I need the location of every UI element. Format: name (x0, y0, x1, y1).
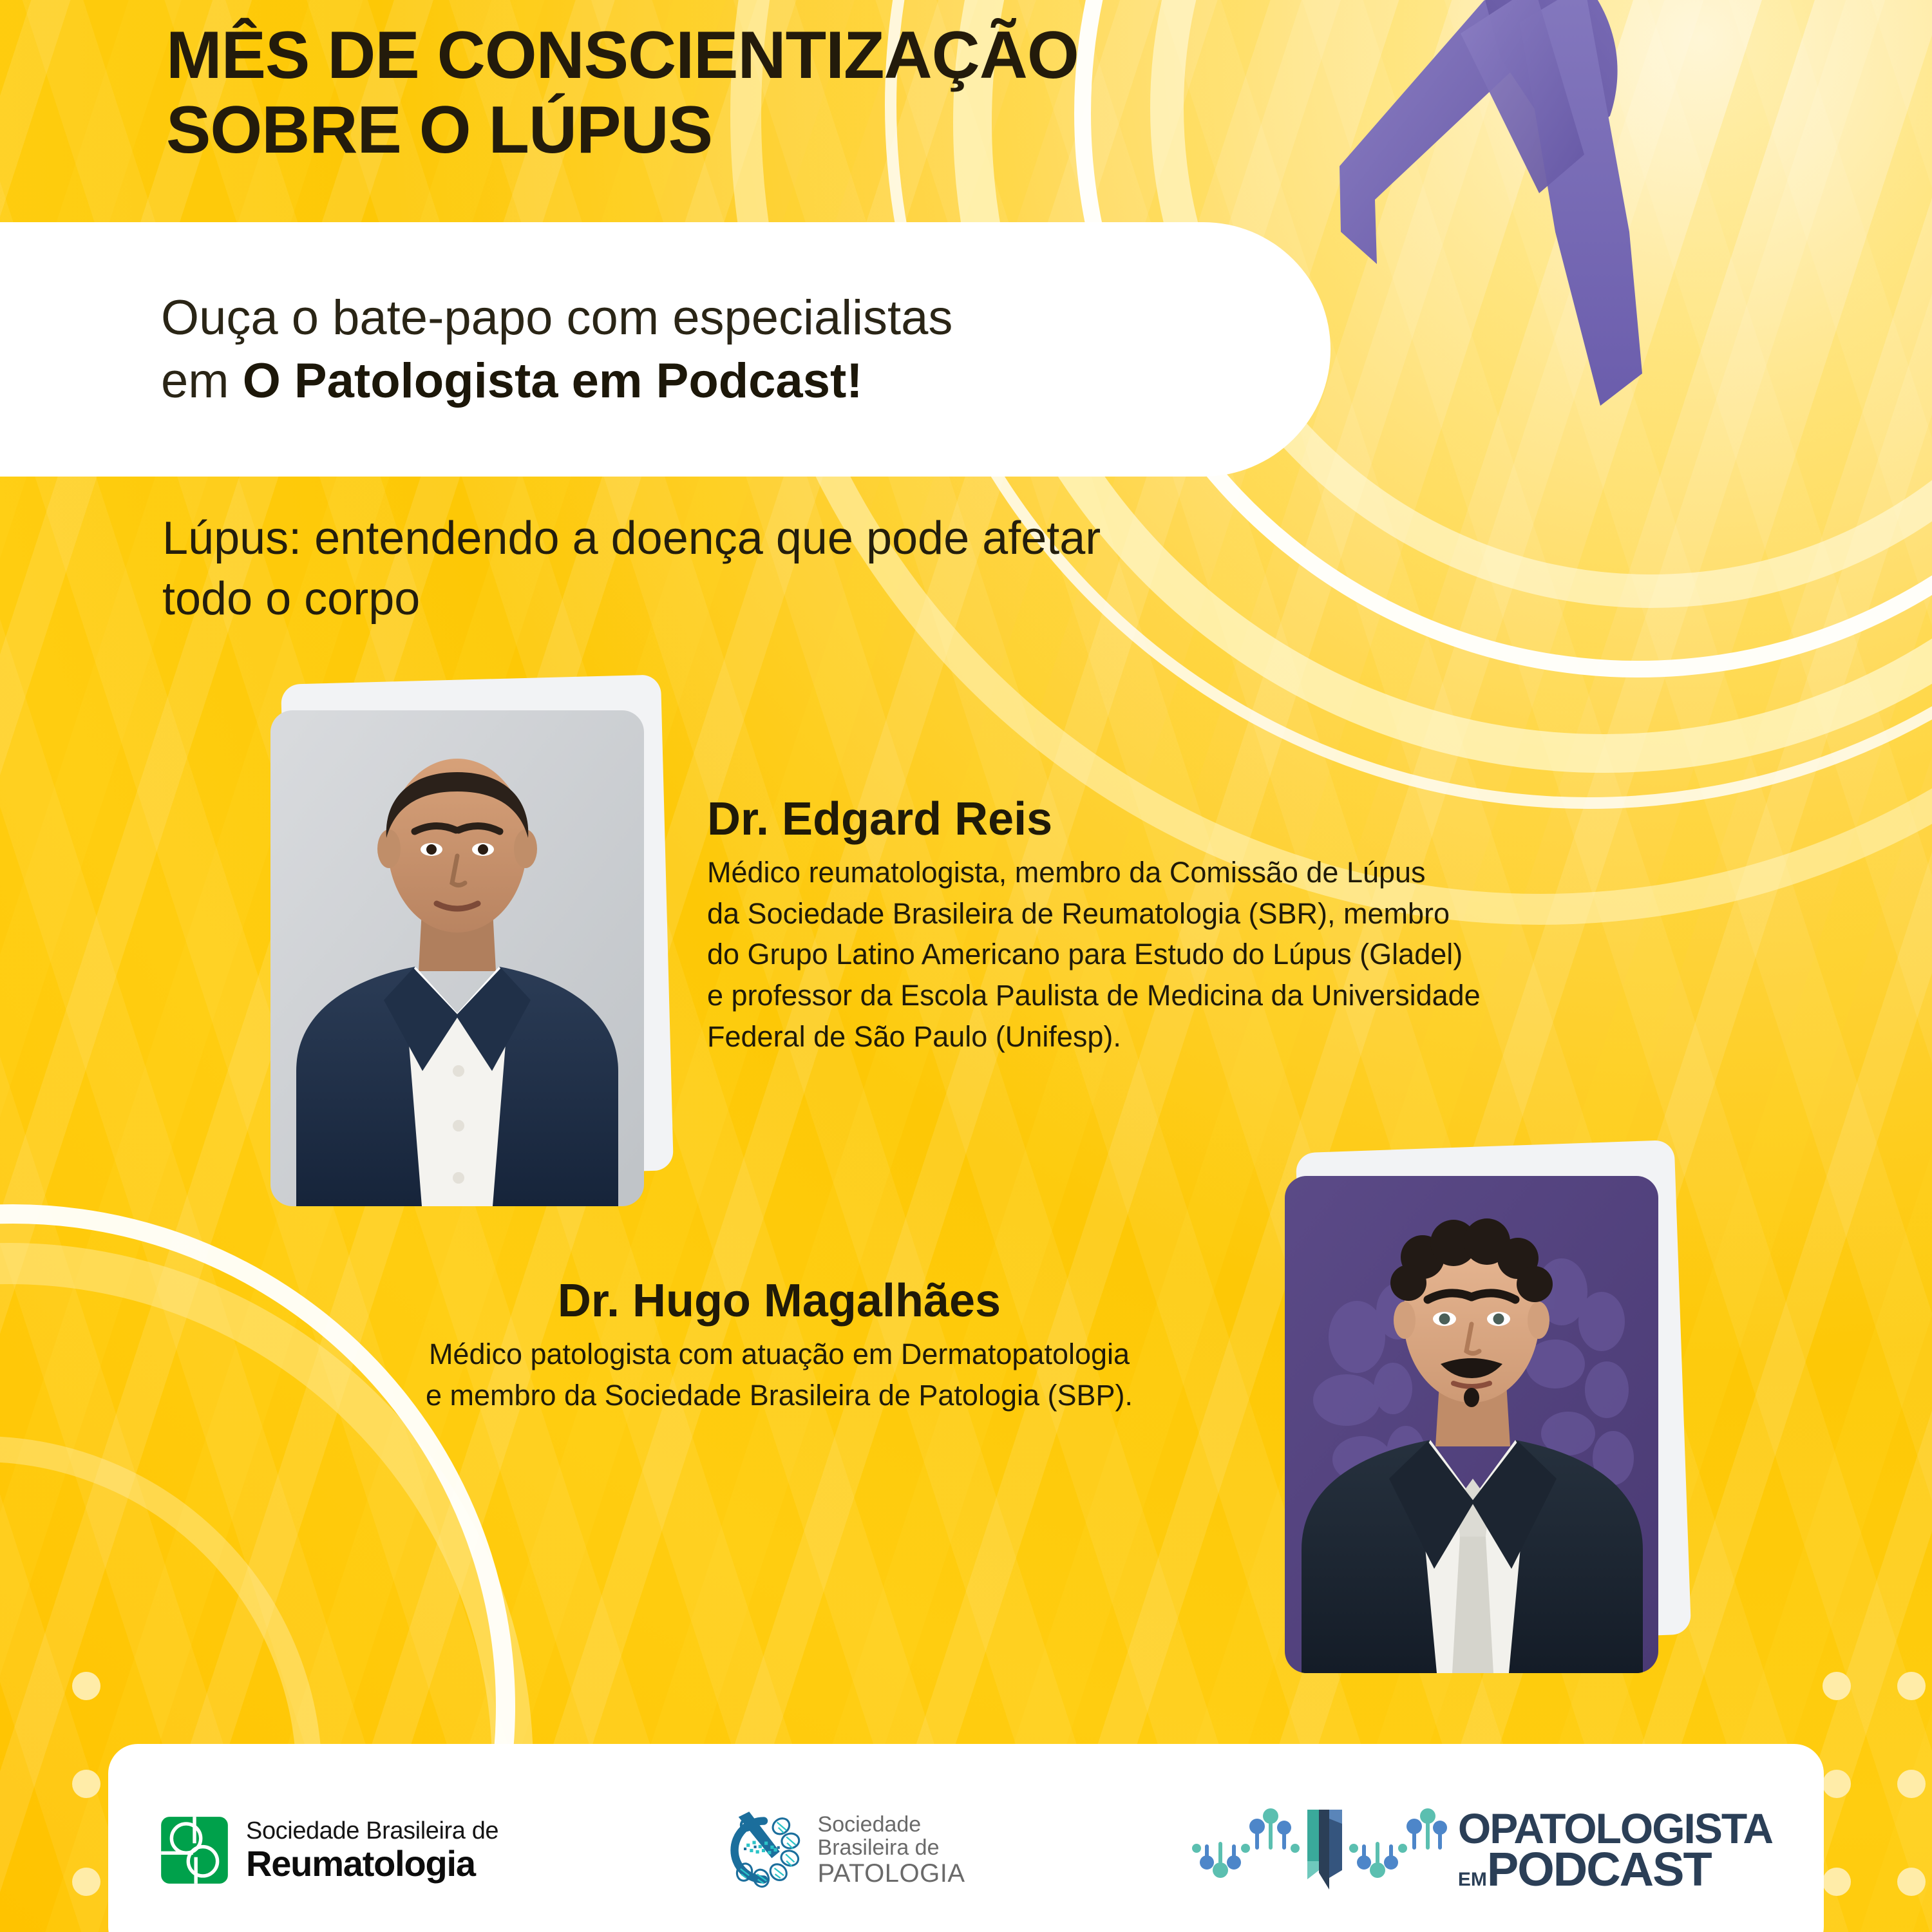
bio-line: e professor da Escola Paulista de Medici… (707, 975, 1866, 1016)
subtitle-line-2: todo o corpo (162, 569, 1386, 630)
photo-frame (1285, 1176, 1658, 1673)
bio-line: Médico reumatologista, membro da Comissã… (707, 852, 1866, 893)
podcast-waveform-icon (1190, 1808, 1448, 1892)
podcast-line-2: EMPODCAST (1458, 1848, 1772, 1891)
podcast-em-superscript: EM (1458, 1869, 1487, 1890)
decorative-dots-right (1823, 1672, 1851, 1896)
cta-text: Ouça o bate-papo com especialistas em O … (161, 287, 952, 412)
sbr-wordmark: Sociedade Brasileira de Reumatologia (246, 1819, 498, 1882)
episode-subtitle: Lúpus: entendendo a doença que pode afet… (162, 509, 1386, 629)
poster-root: MÊS DE CONSCIENTIZAÇÃO SOBRE O LÚPUS Ouç… (0, 0, 1932, 1932)
cta-line-2-prefix: em (161, 354, 243, 408)
speaker-name: Dr. Hugo Magalhães (245, 1275, 1314, 1327)
speaker-name: Dr. Edgard Reis (707, 793, 1866, 846)
speaker-bio-hugo-magalhaes: Dr. Hugo Magalhães Médico patologista co… (245, 1275, 1314, 1416)
sbr-mark-icon (160, 1815, 229, 1885)
podcast-line-1: OPATOLOGISTA (1458, 1809, 1772, 1848)
speaker-bio-text: Médico patologista com atuação em Dermat… (245, 1334, 1314, 1416)
footer-logo-bar: Sociedade Brasileira de Reumatologia (108, 1744, 1824, 1932)
sbp-microscope-dna-icon (724, 1810, 804, 1890)
logo-sociedade-brasileira-reumatologia: Sociedade Brasileira de Reumatologia (160, 1815, 498, 1885)
cta-banner: Ouça o bate-papo com especialistas em O … (0, 222, 1331, 477)
podcast-podcast-text: PODCAST (1487, 1842, 1711, 1896)
sbp-wordmark: Sociedade Brasileira de PATOLOGIA (818, 1813, 965, 1888)
cta-line-2: em O Patologista em Podcast! (161, 350, 952, 412)
title-line-1: MÊS DE CONSCIENTIZAÇÃO (166, 18, 1079, 93)
bio-line: da Sociedade Brasileira de Reumatologia … (707, 893, 1866, 934)
page-title: MÊS DE CONSCIENTIZAÇÃO SOBRE O LÚPUS (166, 18, 1390, 168)
logo-patologista-em-podcast: OPATOLOGISTA EMPODCAST (1190, 1808, 1772, 1892)
bio-line: do Grupo Latino Americano para Estudo do… (707, 934, 1866, 975)
photo-frame (270, 710, 644, 1206)
speaker-photo-edgard-reis (270, 679, 683, 1207)
logo-sociedade-brasileira-patologia: Sociedade Brasileira de PATOLOGIA (724, 1810, 965, 1890)
speaker-photo-hugo-magalhaes (1285, 1146, 1697, 1674)
sbr-line-2: Reumatologia (246, 1846, 498, 1882)
cta-podcast-name: O Patologista em Podcast! (243, 354, 863, 408)
bio-line: Médico patologista com atuação em Dermat… (245, 1334, 1314, 1375)
cta-line-1: Ouça o bate-papo com especialistas (161, 287, 952, 349)
podcast-o-mark: O (1458, 1804, 1490, 1852)
sbr-line-1: Sociedade Brasileira de (246, 1819, 498, 1843)
subtitle-line-1: Lúpus: entendendo a doença que pode afet… (162, 509, 1386, 569)
speaker-bio-text: Médico reumatologista, membro da Comissã… (707, 852, 1866, 1057)
podcast-wordmark: OPATOLOGISTA EMPODCAST (1458, 1809, 1772, 1892)
decorative-dots-right-outer (1897, 1672, 1926, 1896)
sbp-line-3: PATOLOGIA (818, 1860, 965, 1888)
decorative-dots-left (72, 1672, 100, 1896)
speaker-bio-edgard-reis: Dr. Edgard Reis Médico reumatologista, m… (707, 793, 1866, 1057)
sbp-line-1: Sociedade (818, 1813, 965, 1837)
bio-line: Federal de São Paulo (Unifesp). (707, 1016, 1866, 1057)
title-line-2: SOBRE O LÚPUS (166, 93, 1390, 167)
bio-line: e membro da Sociedade Brasileira de Pato… (245, 1375, 1314, 1416)
sbp-line-2: Brasileira de (818, 1836, 965, 1860)
